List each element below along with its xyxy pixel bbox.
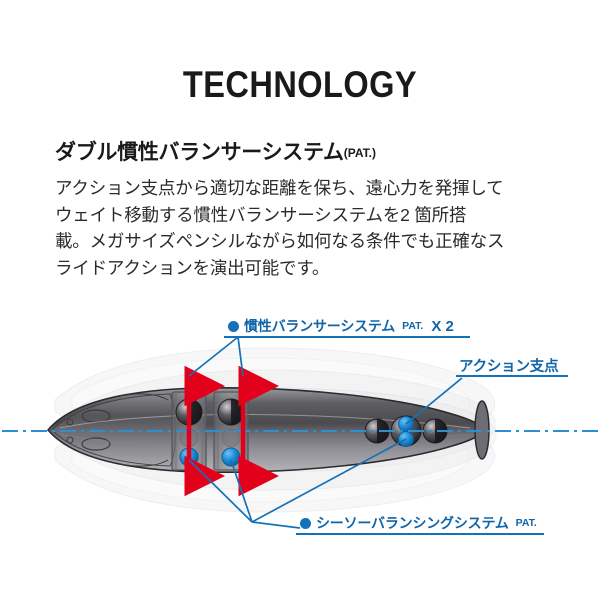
technology-page: TECHNOLOGY ダブル慣性バランサーシステム(PAT.) アクション支点か… bbox=[0, 0, 600, 600]
callout-action-fulcrum: アクション支点 bbox=[459, 355, 558, 376]
callout-inertia-multiplier: X 2 bbox=[431, 318, 454, 335]
body-line: 載。メガサイズペンシルながら如何なる条件でも正確なス bbox=[55, 228, 555, 255]
fulcrum-assembly bbox=[365, 416, 447, 447]
bullet-dot-icon bbox=[300, 518, 311, 529]
callout-fulcrum-text: アクション支点 bbox=[459, 355, 558, 376]
callout-seesaw-text: シーソーバランシングシステム bbox=[316, 513, 509, 533]
callout-inertia-balancer: 慣性バランサーシステム PAT. X 2 bbox=[228, 316, 454, 336]
section-subtitle: ダブル慣性バランサーシステム(PAT.) bbox=[55, 136, 376, 166]
callout-seesaw-underline bbox=[296, 533, 544, 535]
bullet-dot-icon bbox=[228, 321, 239, 332]
callout-fulcrum-underline bbox=[456, 375, 568, 377]
callout-inertia-text: 慣性バランサーシステム bbox=[244, 316, 395, 336]
section-subtitle-pat: (PAT.) bbox=[344, 146, 376, 160]
page-title: TECHNOLOGY bbox=[36, 64, 564, 106]
section-subtitle-text: ダブル慣性バランサーシステム bbox=[55, 141, 344, 164]
body-paragraph: アクション支点から適切な距離を保ち、遠心力を発揮して ウェイト移動する慣性バラン… bbox=[55, 175, 555, 281]
callout-seesaw-pat: PAT. bbox=[516, 517, 537, 529]
body-line: アクション支点から適切な距離を保ち、遠心力を発揮して bbox=[55, 175, 555, 202]
callout-inertia-pat: PAT. bbox=[402, 320, 423, 332]
body-line: ウェイト移動する慣性バランサーシステムを2 箇所搭 bbox=[55, 202, 555, 229]
callout-inertia-underline bbox=[224, 336, 470, 338]
body-line: ライドアクションを演出可能です。 bbox=[55, 255, 555, 282]
callout-seesaw-balancing: シーソーバランシングシステム PAT. bbox=[300, 513, 537, 533]
